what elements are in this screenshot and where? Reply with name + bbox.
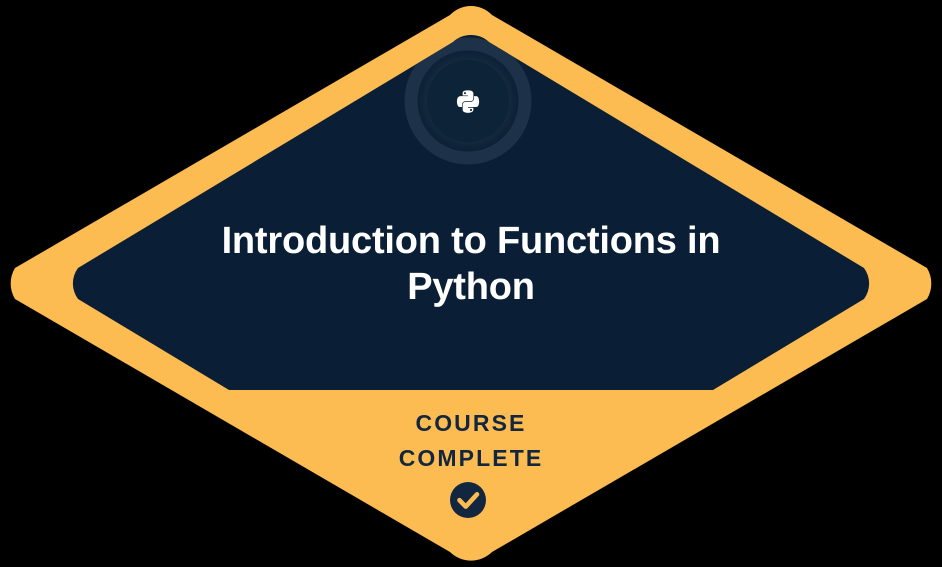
check-circle-icon [450,482,486,518]
status-line-complete: COMPLETE [271,441,671,476]
status-line-course: COURSE [271,406,671,441]
status-block: COURSE COMPLETE [271,406,671,476]
course-title: Introduction to Functions in Python [171,218,771,310]
badge-canvas: Introduction to Functions in Python COUR… [0,0,942,567]
